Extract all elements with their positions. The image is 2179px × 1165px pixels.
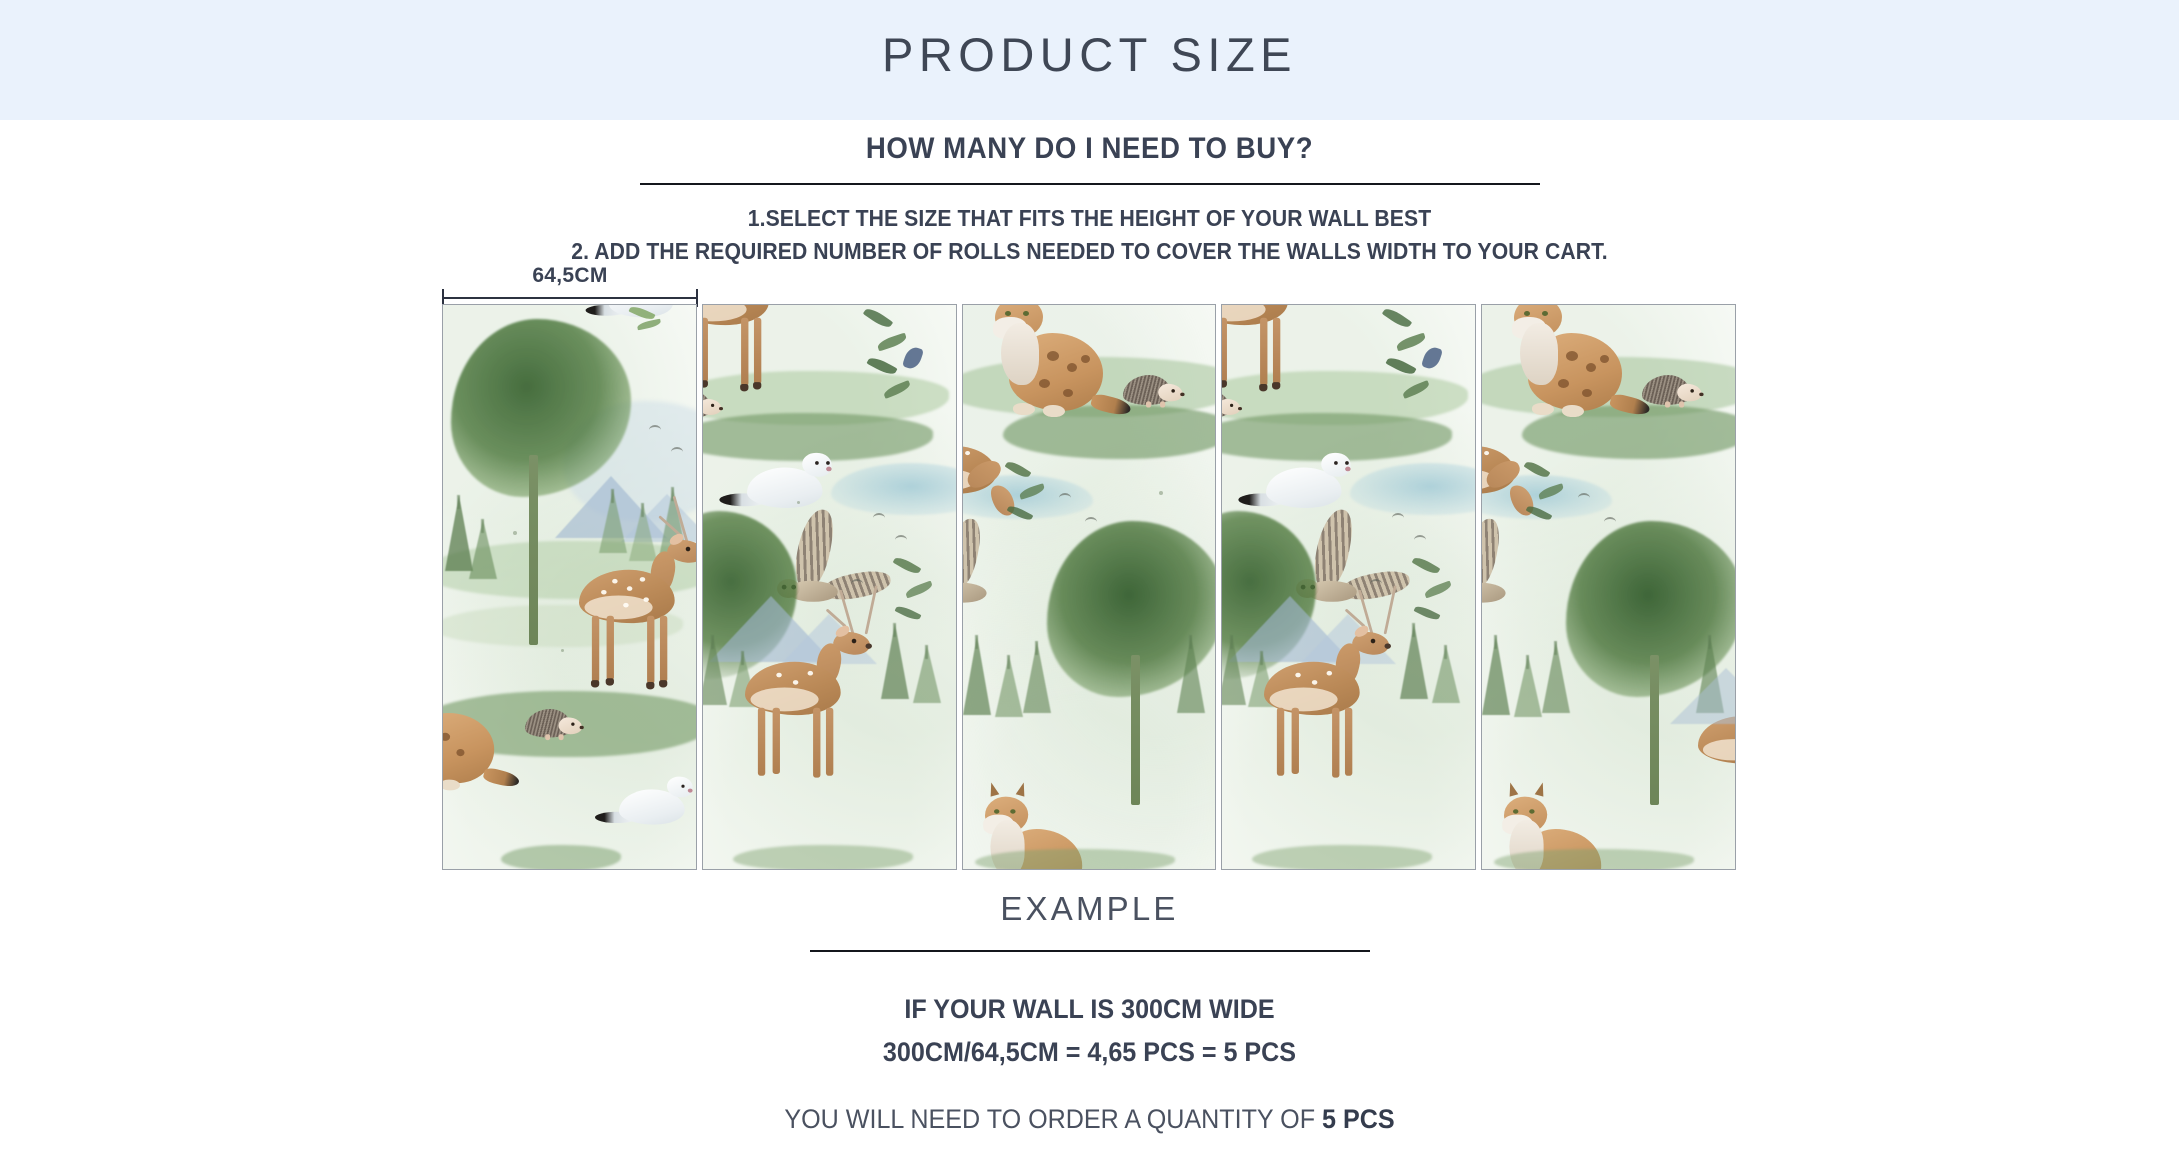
example-divider xyxy=(810,950,1370,952)
dimension-label: 64,5CM xyxy=(442,264,698,288)
wallpaper-roll-5[interactable] xyxy=(1481,304,1736,870)
dimension-indicator: 64,5CM xyxy=(442,264,698,304)
example-calculation: 300CM/64,5CM = 4,65 PCS = 5 PCS xyxy=(76,1037,2102,1068)
intro-step-2: 2. ADD THE REQUIRED NUMBER OF ROLLS NEED… xyxy=(87,235,2092,268)
wallpaper-pattern-art xyxy=(703,305,956,869)
wallpaper-roll-strip xyxy=(442,304,1736,870)
intro-step-1: 1.SELECT THE SIZE THAT FITS THE HEIGHT O… xyxy=(87,202,2092,235)
intro-divider xyxy=(640,183,1540,185)
wallpaper-roll-4[interactable] xyxy=(1221,304,1476,870)
example-heading: EXAMPLE xyxy=(0,890,2179,928)
example-order-bold: 5 PCS xyxy=(1322,1104,1395,1134)
dimension-line xyxy=(442,297,698,299)
example-wall-width: IF YOUR WALL IS 300CM WIDE xyxy=(76,994,2102,1025)
intro-section: HOW MANY DO I NEED TO BUY? 1.SELECT THE … xyxy=(0,132,2179,267)
example-order-quantity: YOU WILL NEED TO ORDER A QUANTITY OF 5 P… xyxy=(76,1104,2102,1135)
example-section: EXAMPLE IF YOUR WALL IS 300CM WIDE 300CM… xyxy=(0,890,2179,1135)
wallpaper-roll-1[interactable] xyxy=(442,304,697,870)
product-size-infographic: PRODUCT SIZE HOW MANY DO I NEED TO BUY? … xyxy=(0,0,2179,1165)
intro-steps: 1.SELECT THE SIZE THAT FITS THE HEIGHT O… xyxy=(0,202,2179,267)
wallpaper-pattern-art xyxy=(1482,305,1735,869)
page-title: PRODUCT SIZE xyxy=(0,27,2179,82)
intro-heading: HOW MANY DO I NEED TO BUY? xyxy=(87,132,2092,166)
wallpaper-roll-3[interactable] xyxy=(962,304,1217,870)
wallpaper-roll-2[interactable] xyxy=(702,304,957,870)
wallpaper-pattern-art xyxy=(963,305,1216,869)
header-band: PRODUCT SIZE xyxy=(0,0,2179,120)
wallpaper-pattern-art xyxy=(443,305,696,869)
example-order-prefix: YOU WILL NEED TO ORDER A QUANTITY OF xyxy=(784,1104,1322,1134)
wallpaper-pattern-art xyxy=(1222,305,1475,869)
